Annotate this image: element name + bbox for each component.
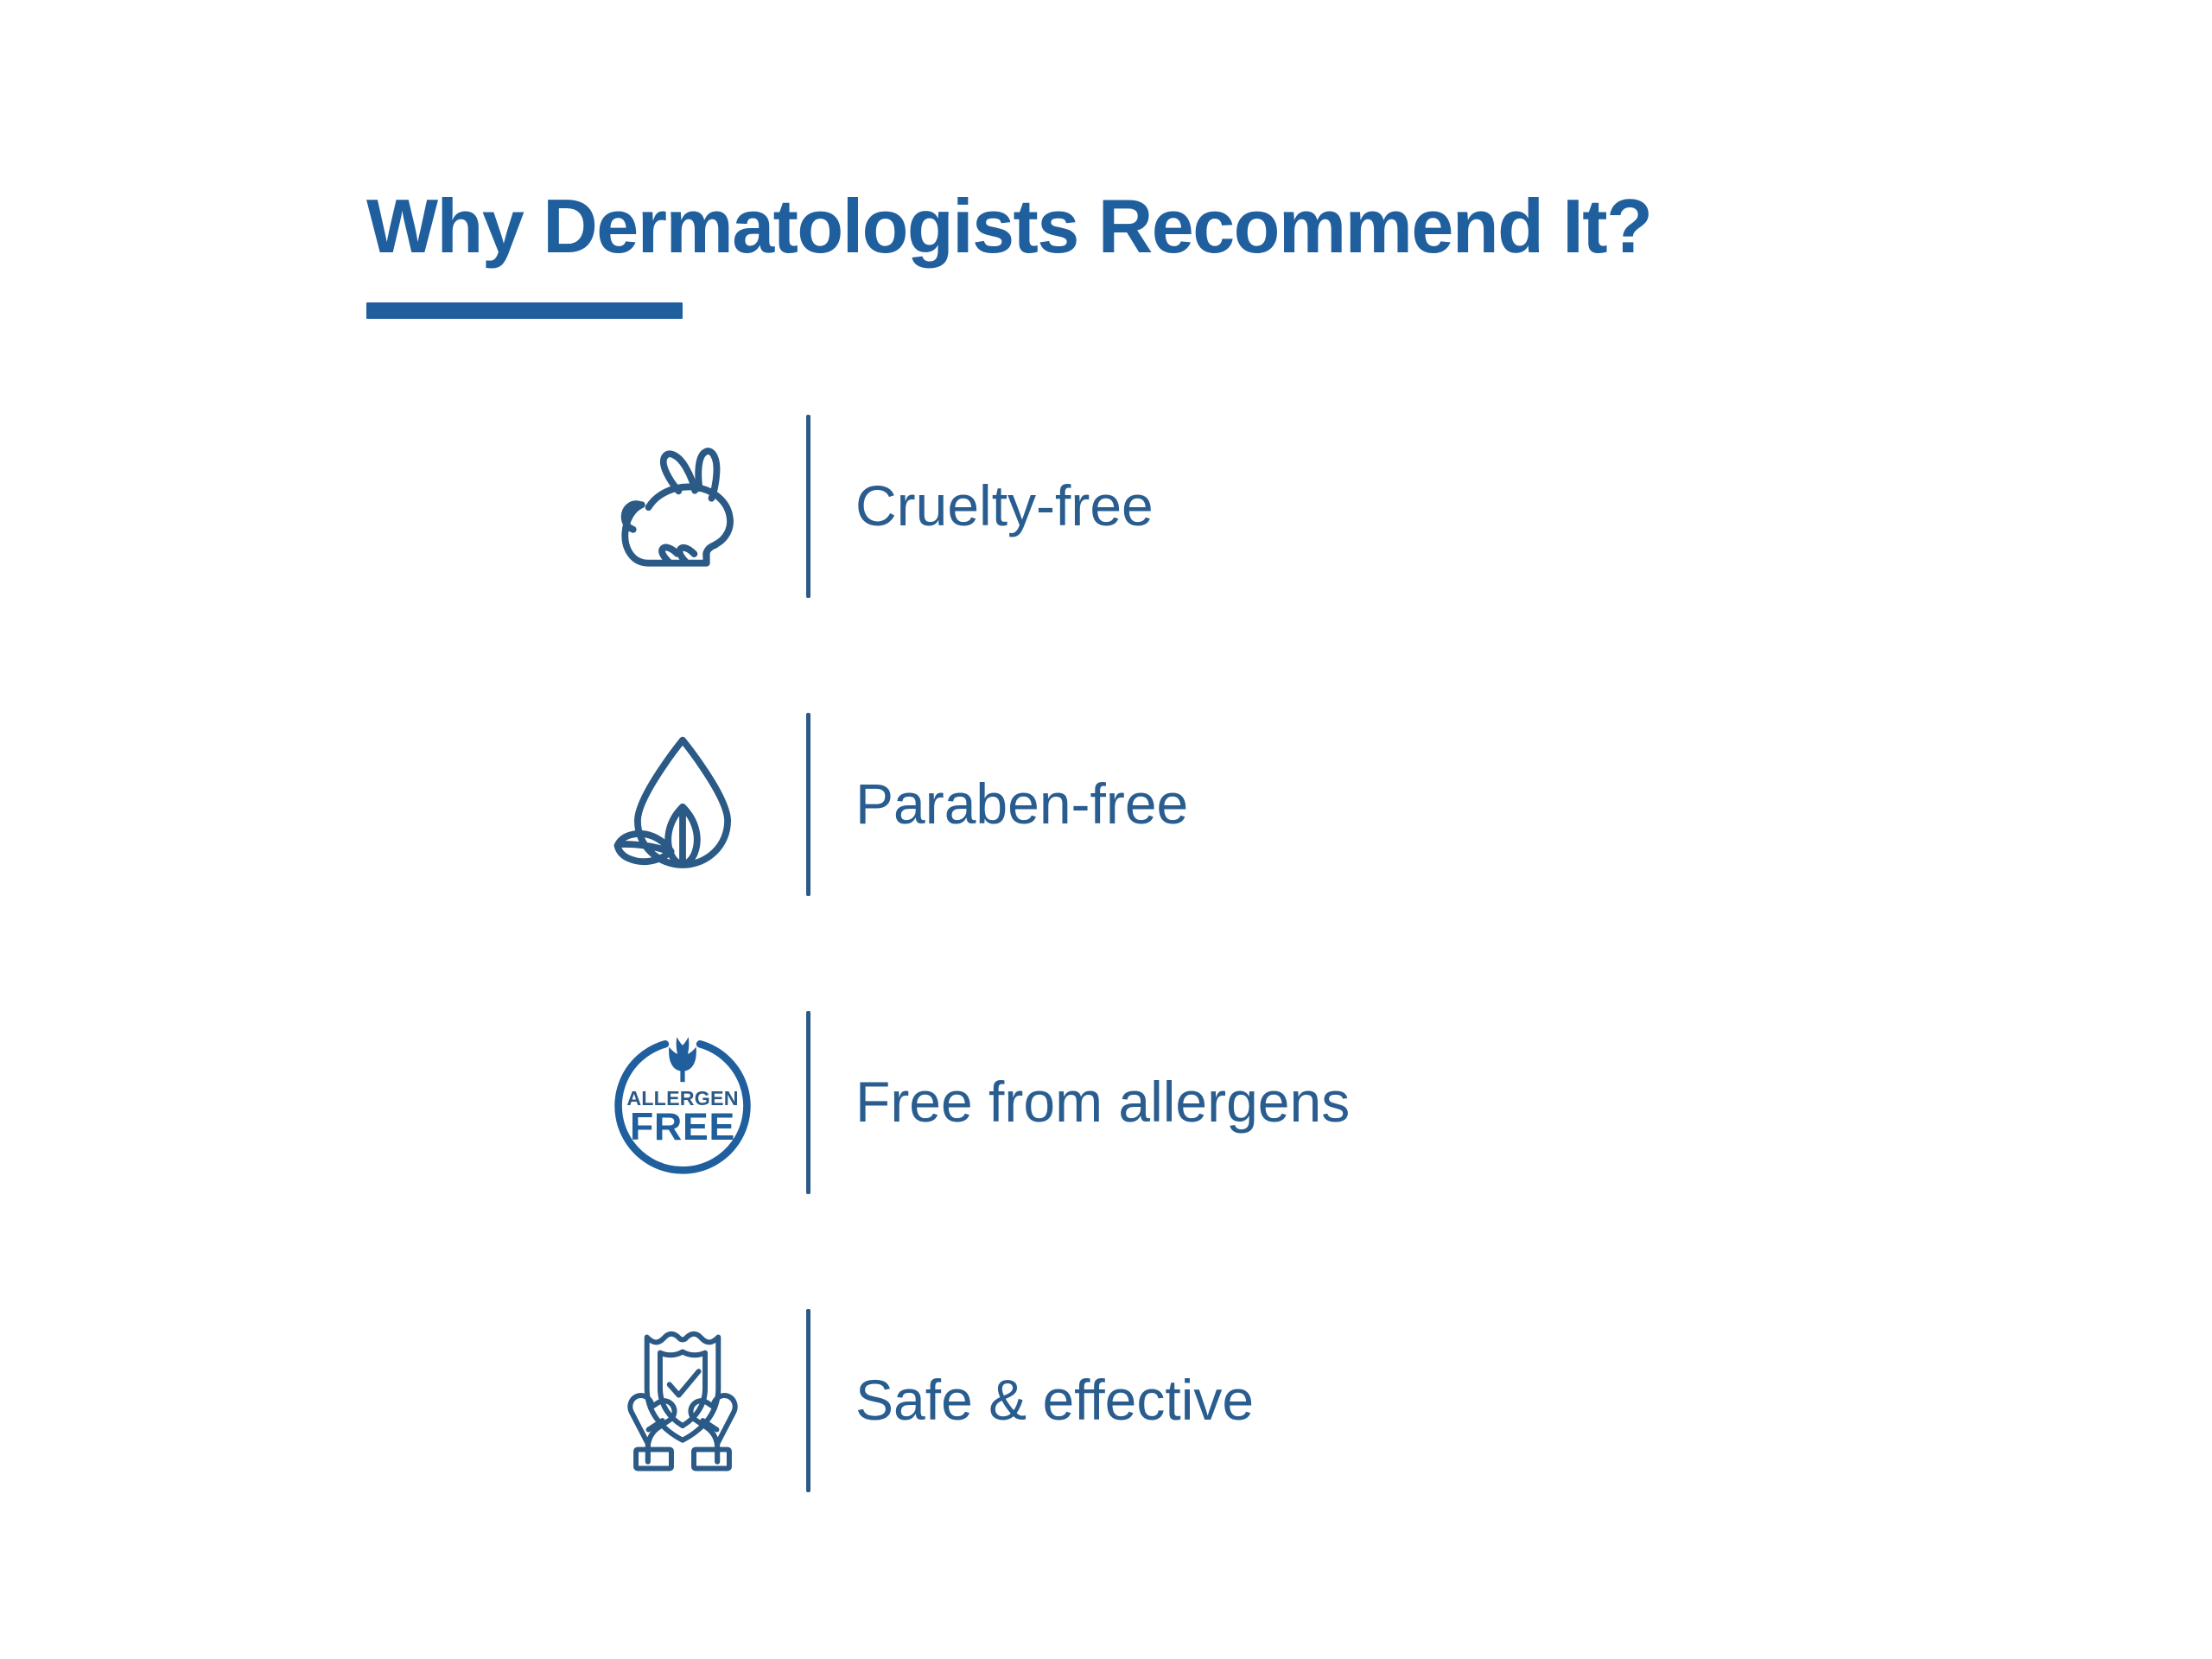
- feature-divider: [806, 713, 810, 896]
- hands-holding-shield-check-icon: [596, 1314, 769, 1487]
- slide-canvas: Why Dermatologists Recommend It?: [0, 0, 2212, 1659]
- list-item-label: Paraben-free: [855, 774, 1188, 834]
- list-item: Paraben-free: [596, 697, 2065, 912]
- allergen-free-badge-icon: ALLERGEN FREE: [596, 1016, 769, 1189]
- feature-list: Cruelty-free: [596, 399, 2065, 1508]
- feature-divider: [806, 1309, 810, 1492]
- list-item-label: Free from allergens: [855, 1072, 1350, 1132]
- page-title: Why Dermatologists Recommend It?: [366, 188, 1974, 264]
- feature-divider: [806, 1011, 810, 1194]
- water-drop-leaf-icon: [596, 718, 769, 891]
- heading-block: Why Dermatologists Recommend It?: [366, 188, 1974, 319]
- list-item-label: Cruelty-free: [855, 476, 1154, 536]
- rabbit-icon: [596, 420, 769, 593]
- list-item: Safe & effective: [596, 1294, 2065, 1508]
- title-underline-rule: [366, 302, 683, 319]
- badge-text-free: FREE: [630, 1106, 735, 1148]
- list-item: ALLERGEN FREE Free from allergens: [596, 995, 2065, 1210]
- feature-divider: [806, 415, 810, 598]
- list-item-label: Safe & effective: [855, 1370, 1254, 1430]
- list-item: Cruelty-free: [596, 399, 2065, 613]
